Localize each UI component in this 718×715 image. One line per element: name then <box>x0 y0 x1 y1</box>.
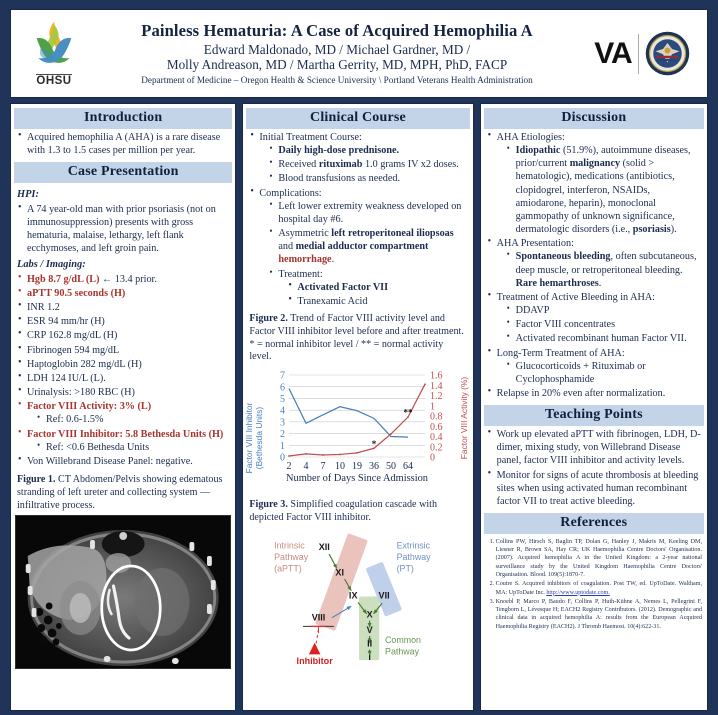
list-item: Spontaneous bleeding, often subcutaneous… <box>506 250 702 289</box>
poster-header: OHSU Painless Hematuria: A Case of Acqui… <box>10 9 708 98</box>
intrinsic-pathway-aptt: (aPTT) <box>275 563 303 573</box>
figure2-chart: 0123456700.20.40.60.811.21.41.6247101936… <box>243 369 470 492</box>
y-axis-left-tick: 2 <box>280 429 285 440</box>
rituximab-drug: rituximab <box>319 159 363 170</box>
discussion-body: AHA Etiologies: Idiopathic (51.9%), auto… <box>481 131 707 401</box>
treatment-label: Treatment: <box>278 269 322 280</box>
chart-annotation: * <box>372 439 377 449</box>
lab-value: Hgb 8.7 g/dL (L) <box>27 274 99 285</box>
longterm-list: Glucocorticoids + Rituximab or Cyclophos… <box>506 360 702 386</box>
list-item: Daily high-dose prednisone. <box>268 144 467 157</box>
factor-viii-trend-chart: 0123456700.20.40.60.811.21.41.6247101936… <box>243 369 473 487</box>
x-axis-tick: 10 <box>335 461 345 472</box>
complication2-mid: and <box>278 241 295 252</box>
list-item: INR 1.2 <box>17 301 230 314</box>
va-seal-icon <box>645 31 690 76</box>
lab-value: Haptoglobin 282 mg/dL (H) <box>27 359 142 370</box>
poster-canvas: OHSU Painless Hematuria: A Case of Acqui… <box>0 0 718 715</box>
section-header-introduction: Introduction <box>14 108 232 129</box>
lab-value: ESR 94 mm/hr (H) <box>27 316 105 327</box>
lab-value: Urinalysis: >180 RBC (H) <box>27 387 135 398</box>
list-item: Left lower extremity weakness developed … <box>268 200 467 226</box>
list-item: Glucocorticoids + Rituximab or Cyclophos… <box>506 360 702 386</box>
labs-list: Hgb 8.7 g/dL (L) ← 13.4 prior.aPTT 90.5 … <box>17 273 230 468</box>
section-header-clinical-course: Clinical Course <box>246 108 469 129</box>
extrinsic-pathway-pt: (PT) <box>397 563 414 573</box>
list-item: Factor VIII Activity: 3% (L)Ref: 0.6-1.5… <box>17 400 230 426</box>
list-item: Work up elevated aPTT with fibrinogen, L… <box>487 428 702 467</box>
list-item: Idiopathic (51.9%), autoimmune diseases,… <box>506 144 702 236</box>
lab-value: Fibrinogen 594 mg/dL <box>27 345 119 356</box>
etiology-malignancy: malignancy <box>570 158 620 169</box>
list-item: AHA Etiologies: Idiopathic (51.9%), auto… <box>487 131 702 236</box>
introduction-body: Acquired hemophilia A (AHA) is a rare di… <box>11 131 235 158</box>
clinical-course-body: Initial Treatment Course: Daily high-dos… <box>243 131 472 367</box>
y-axis-right-tick: 0 <box>430 453 435 464</box>
column-middle: Clinical Course Initial Treatment Course… <box>242 103 473 711</box>
complication2-site1: left retroperitoneal iliopsoas <box>331 228 453 239</box>
presentation-label: AHA Presentation: <box>497 238 574 249</box>
treatment-prednisone: Daily high-dose prednisone. <box>278 145 399 156</box>
x-axis-tick: 50 <box>386 461 396 472</box>
list-item: Tranexamic Acid <box>287 295 467 308</box>
x-axis-tick: 64 <box>403 461 413 472</box>
presentation-spontaneous-bleeding: Spontaneous bleeding <box>516 251 611 262</box>
y-axis-left-tick: 6 <box>280 383 285 394</box>
treatment-list: Activated Factor VII Tranexamic Acid <box>287 281 467 308</box>
active-treatment-list: DDAVP Factor VIII concentrates Activated… <box>506 304 702 345</box>
list-item: CRP 162.8 mg/dL (H) <box>17 329 230 342</box>
authors-line-2: Molly Andreason, MD / Martha Gerrity, MD… <box>95 58 579 73</box>
ohsu-flame-icon <box>28 19 80 73</box>
list-item: DDAVP <box>506 304 702 317</box>
etiology-psoriasis: psoriasis <box>633 224 671 235</box>
section-header-case-presentation: Case Presentation <box>14 162 232 183</box>
chart-annotation: ** <box>404 408 414 418</box>
column-left: Introduction Acquired hemophilia A (AHA)… <box>10 103 236 711</box>
rituximab-pre: Received <box>278 159 318 170</box>
figure3-caption: Figure 3. Simplified coagulation cascade… <box>249 499 467 525</box>
ohsu-wordmark: OHSU <box>36 74 71 88</box>
presentation-text-2: . <box>599 278 602 289</box>
list-item: Ref: 0.6-1.5% <box>36 413 230 426</box>
ohsu-logo: OHSU <box>17 14 91 94</box>
etiology-text-3: ). <box>671 224 677 235</box>
list-item: AHA Presentation: Spontaneous bleeding, … <box>487 237 702 290</box>
y-axis-right-tick: 0.6 <box>430 422 443 433</box>
list-item: LDH 124 IU/L (L). <box>17 372 230 385</box>
list-item: Von Willebrand Disease Panel: negative. <box>17 455 230 468</box>
list-item: Ref: <0.6 Bethesda Units <box>36 441 230 454</box>
factor-vii: VII <box>379 590 390 600</box>
department-affiliation: Department of Medicine – Oregon Health &… <box>95 75 579 85</box>
list-item: Activated Factor VII <box>287 281 467 294</box>
lab-reference-list: Ref: <0.6 Bethesda Units <box>36 441 230 454</box>
case-presentation-body: HPI: A 74 year-old man with prior psoria… <box>11 185 235 469</box>
list-item: Hgb 8.7 g/dL (L) ← 13.4 prior. <box>17 273 230 286</box>
y-axis-left-tick: 1 <box>280 441 285 452</box>
list-item: ESR 94 mm/hr (H) <box>17 315 230 328</box>
figure3-caption-block: Figure 3. Simplified coagulation cascade… <box>243 494 472 528</box>
list-item: Blood transfusions as needed. <box>268 172 467 185</box>
y-axis-right-tick: 1.6 <box>430 371 443 382</box>
y-axis-left-tick: 3 <box>280 418 285 429</box>
lab-suffix: ← 13.4 prior. <box>99 274 156 285</box>
x-axis-tick: 4 <box>304 461 309 472</box>
page-title: Painless Hematuria: A Case of Acquired H… <box>95 22 579 41</box>
references-list: Collins PW, Hirsch S, Baglin TP, Dolan G… <box>487 538 702 631</box>
presentation-list: Spontaneous bleeding, often subcutaneous… <box>506 250 702 289</box>
y-axis-right-label: Factor VIII Activity (%) <box>459 377 469 460</box>
reference-item: Coutre S. Acquired inhibitors of coagula… <box>496 580 702 596</box>
va-wordmark: VA <box>594 37 631 71</box>
list-item: Haptoglobin 282 mg/dL (H) <box>17 358 230 371</box>
y-axis-left-tick: 4 <box>280 406 285 417</box>
factor-xii: XII <box>319 542 330 552</box>
common-pathway-label2: Pathway <box>385 646 420 656</box>
factor-x: X <box>367 610 373 620</box>
list-item: Monitor for signs of acute thrombosis at… <box>487 469 702 508</box>
list-item: Treatment: Activated Factor VII Tranexam… <box>268 268 467 308</box>
treatment-factor-vii: Activated Factor VII <box>297 282 388 293</box>
active-treatment-label: Treatment of Active Bleeding in AHA: <box>497 292 655 303</box>
list-item: Acquired hemophilia A (AHA) is a rare di… <box>17 131 230 157</box>
etiologies-label: AHA Etiologies: <box>497 132 565 143</box>
list-item: aPTT 90.5 seconds (H) <box>17 287 230 300</box>
x-axis-tick: 19 <box>352 461 362 472</box>
references-body: Collins PW, Hirsch S, Baglin TP, Dolan G… <box>481 536 707 632</box>
teaching-points-body: Work up elevated aPTT with fibrinogen, L… <box>481 428 707 509</box>
extrinsic-pathway-label2: Pathway <box>397 552 432 562</box>
list-item: Relapse in 20% even after normalization. <box>487 387 702 400</box>
figure1-label: Figure 1. <box>17 474 56 485</box>
y-axis-left-tick: 5 <box>280 394 285 405</box>
section-header-references: References <box>484 513 704 534</box>
coagulation-cascade-graphic: IntrinsicPathway(aPTT)ExtrinsicPathway(P… <box>243 529 473 664</box>
logo-divider <box>638 34 639 74</box>
y-axis-left-label-units: (Bethesda Units) <box>254 407 264 470</box>
list-item: Factor VIII concentrates <box>506 318 702 331</box>
figure3-cascade-diagram: IntrinsicPathway(aPTT)ExtrinsicPathway(P… <box>243 529 472 669</box>
inhibitor-label: Inhibitor <box>297 656 334 664</box>
intrinsic-pathway-label: Intrinsic <box>275 540 306 550</box>
va-logo-group: VA <box>583 18 701 90</box>
list-item: Received rituximab 1.0 grams IV x2 doses… <box>268 158 467 171</box>
ct-scan-image <box>15 515 231 669</box>
lab-value: LDH 124 IU/L (L). <box>27 373 106 384</box>
lab-value: aPTT 90.5 seconds (H) <box>27 288 125 299</box>
reference-link[interactable]: http://www.uptodate.com. <box>546 590 609 596</box>
lab-value: INR 1.2 <box>27 302 60 313</box>
complications-list: Left lower extremity weakness developed … <box>268 200 467 308</box>
x-axis-tick: 7 <box>321 461 326 472</box>
authors-line-1: Edward Maldonado, MD / Michael Gardner, … <box>95 43 579 58</box>
y-axis-right-tick: 1 <box>430 402 435 413</box>
complication2-end: . <box>332 254 335 265</box>
y-axis-right-tick: 1.2 <box>430 391 443 402</box>
list-item: Initial Treatment Course: Daily high-dos… <box>249 131 467 186</box>
complication2-pre: Asymmetric <box>278 228 331 239</box>
complication2-site2: medial adductor compartment <box>296 241 429 252</box>
figure1-caption-block: Figure 1. CT Abdomen/Pelvis showing edem… <box>11 469 235 515</box>
y-axis-left-label: Factor VIII Inhibitor <box>244 403 254 474</box>
x-axis-label: Number of Days Since Admission <box>286 473 429 484</box>
list-item: Fibrinogen 594 mg/dL <box>17 344 230 357</box>
etiologies-list: Idiopathic (51.9%), autoimmune diseases,… <box>506 144 702 236</box>
y-axis-right-tick: 0.2 <box>430 443 443 454</box>
intrinsic-pathway-label2: Pathway <box>275 552 310 562</box>
x-axis-tick: 2 <box>287 461 292 472</box>
complications-label: Complications: <box>259 188 321 199</box>
y-axis-left-tick: 7 <box>280 371 285 382</box>
list-item: Complications: Left lower extremity weak… <box>249 187 467 308</box>
complication2-hemorrhage: hemorrhage <box>278 254 331 265</box>
poster-columns: Introduction Acquired hemophilia A (AHA)… <box>10 103 708 711</box>
longterm-label: Long-Term Treatment of AHA: <box>497 348 625 359</box>
presentation-hemarthroses: Rare hemarthroses <box>516 278 599 289</box>
list-item: A 74 year-old man with prior psoriasis (… <box>17 203 230 256</box>
etiology-idiopathic: Idiopathic <box>516 145 561 156</box>
figure2-label: Figure 2. <box>249 313 288 324</box>
reference-item: Knoebl P, Marco P, Baudo F, Collins P, H… <box>496 598 702 631</box>
factor-xi: XI <box>336 567 345 577</box>
y-axis-right-tick: 0.4 <box>430 432 443 443</box>
factor-viii: VIII <box>312 613 326 623</box>
lab-value: Factor VIII Activity: 3% (L) <box>27 401 151 412</box>
list-item: Treatment of Active Bleeding in AHA: DDA… <box>487 291 702 346</box>
lab-value: Factor VIII Inhibitor: 5.8 Bethesda Unit… <box>27 429 223 440</box>
y-axis-right-tick: 0.8 <box>430 412 443 423</box>
labs-label: Labs / Imaging: <box>17 258 230 271</box>
initial-treatment-list: Daily high-dose prednisone. Received rit… <box>268 144 467 185</box>
initial-treatment-label: Initial Treatment Course: <box>259 132 361 143</box>
reference-item: Collins PW, Hirsch S, Baglin TP, Dolan G… <box>496 538 702 579</box>
hpi-label: HPI: <box>17 188 230 201</box>
lab-reference-list: Ref: 0.6-1.5% <box>36 413 230 426</box>
figure1-caption: Figure 1. CT Abdomen/Pelvis showing edem… <box>17 474 230 512</box>
list-item: Long-Term Treatment of AHA: Glucocortico… <box>487 347 702 386</box>
header-text-block: Painless Hematuria: A Case of Acquired H… <box>91 22 583 85</box>
column-right: Discussion AHA Etiologies: Idiopathic (5… <box>480 103 708 711</box>
common-pathway-label: Common <box>385 635 421 645</box>
factor-ix: IX <box>349 590 358 600</box>
list-item: Factor VIII Inhibitor: 5.8 Bethesda Unit… <box>17 428 230 454</box>
rituximab-dose: 1.0 grams IV x2 doses. <box>362 159 458 170</box>
list-item: Asymmetric left retroperitoneal iliopsoa… <box>268 227 467 266</box>
y-axis-right-tick: 1.4 <box>430 381 443 392</box>
extrinsic-pathway-label: Extrinsic <box>397 540 431 550</box>
y-axis-left-tick: 0 <box>280 453 285 464</box>
figure3-label: Figure 3. <box>249 499 288 510</box>
x-axis-tick: 36 <box>369 461 379 472</box>
list-item: Activated recombinant human Factor VII. <box>506 332 702 345</box>
section-header-teaching-points: Teaching Points <box>484 405 704 426</box>
ct-scan-graphic <box>16 516 230 668</box>
section-header-discussion: Discussion <box>484 108 704 129</box>
list-item: Urinalysis: >180 RBC (H) <box>17 386 230 399</box>
figure2-caption: Figure 2. Trend of Factor VIII activity … <box>249 313 467 364</box>
lab-value: CRP 162.8 mg/dL (H) <box>27 330 117 341</box>
